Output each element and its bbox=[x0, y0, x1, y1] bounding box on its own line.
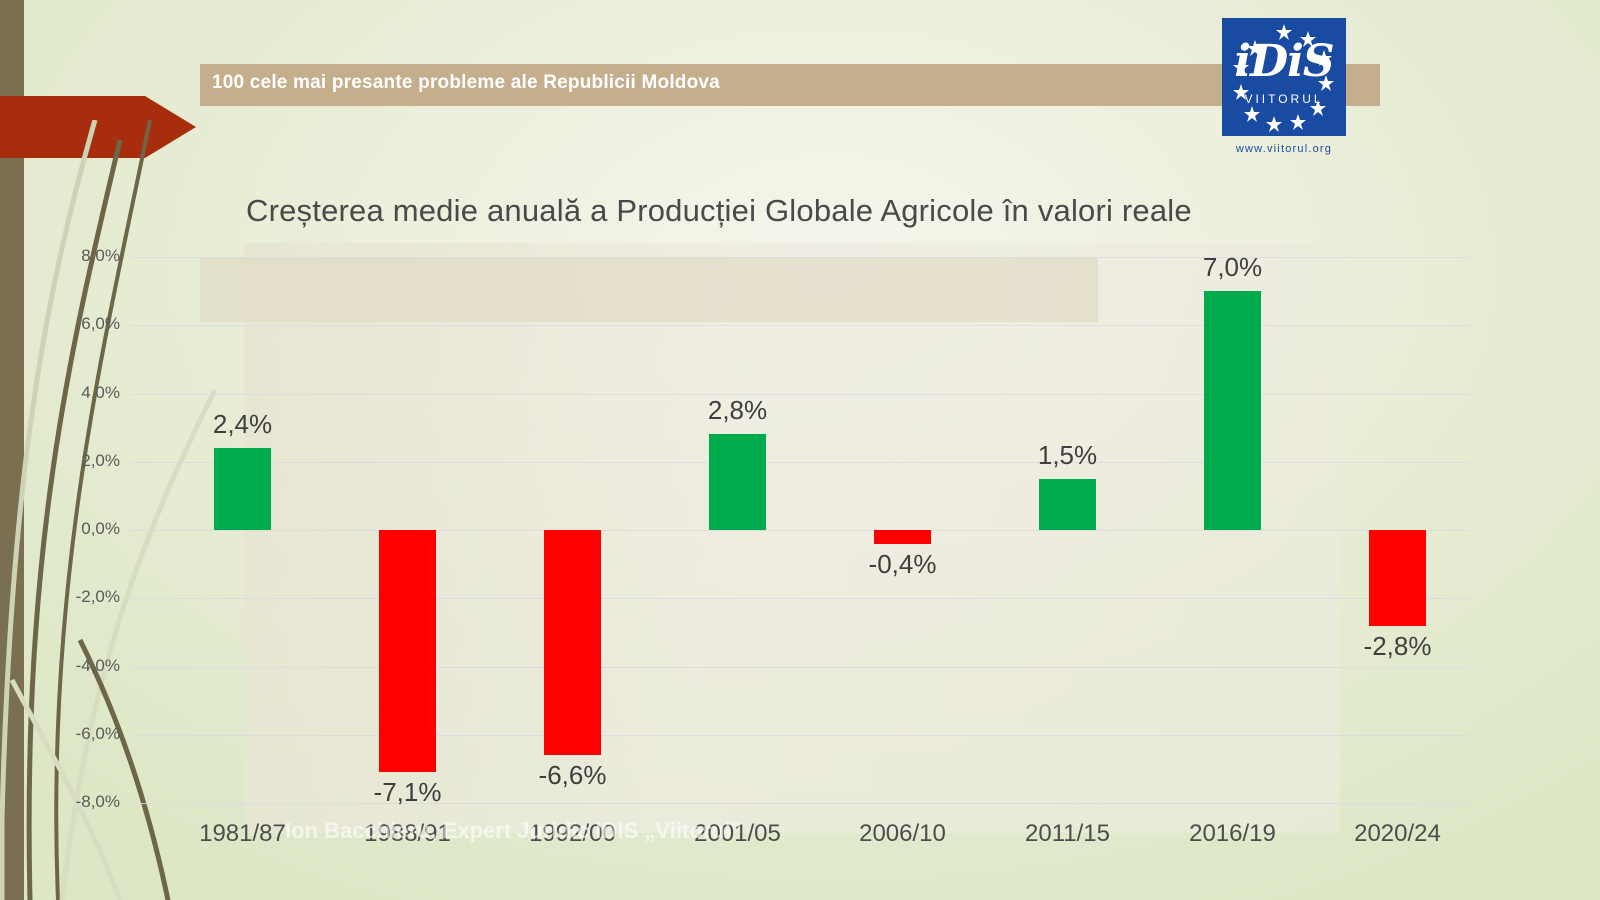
y-axis-tick-label: 4,0% bbox=[10, 383, 120, 403]
gridline bbox=[130, 598, 1470, 599]
bar-value-label: -2,8% bbox=[1318, 631, 1478, 662]
bar-value-label: -7,1% bbox=[328, 777, 488, 808]
bar-value-label: 1,5% bbox=[988, 440, 1148, 471]
bar-1981-87[interactable] bbox=[214, 448, 271, 530]
bar-2011-15[interactable] bbox=[1039, 479, 1096, 530]
gridline bbox=[130, 667, 1470, 668]
gridline bbox=[130, 325, 1470, 326]
gridline bbox=[130, 735, 1470, 736]
gridline bbox=[130, 530, 1470, 531]
bar-1988-91[interactable] bbox=[379, 530, 436, 772]
bar-2006-10[interactable] bbox=[874, 530, 931, 544]
y-axis-tick-label: -2,0% bbox=[10, 587, 120, 607]
bar-2016-19[interactable] bbox=[1204, 291, 1261, 530]
slide-canvas: 100 cele mai presante probleme ale Repub… bbox=[0, 0, 1600, 900]
y-axis-tick-label: 8,0% bbox=[10, 246, 120, 266]
bar-2001-05[interactable] bbox=[709, 434, 766, 530]
x-axis-tick-label: 2006/10 bbox=[823, 820, 983, 848]
x-axis-tick-label: 2011/15 bbox=[988, 820, 1148, 848]
y-axis-tick-label: -4,0% bbox=[10, 656, 120, 676]
y-axis-tick-label: -6,0% bbox=[10, 724, 120, 744]
bar-value-label: 7,0% bbox=[1153, 252, 1313, 283]
bar-value-label: 2,4% bbox=[163, 409, 323, 440]
bar-1992-00[interactable] bbox=[544, 530, 601, 755]
x-axis-tick-label: 2016/19 bbox=[1153, 820, 1313, 848]
bar-value-label: -6,6% bbox=[493, 760, 653, 791]
y-axis-tick-label: 0,0% bbox=[10, 519, 120, 539]
x-axis-tick-label: 2020/24 bbox=[1318, 820, 1478, 848]
gridline bbox=[130, 462, 1470, 463]
y-axis-tick-label: 2,0% bbox=[10, 451, 120, 471]
footer-author: Ion Bacchieru, Expert Juridic IDIS „Viit… bbox=[285, 818, 742, 844]
bar-2020-24[interactable] bbox=[1369, 530, 1426, 626]
bar-value-label: 2,8% bbox=[658, 395, 818, 426]
y-axis-tick-label: 6,0% bbox=[10, 314, 120, 334]
gridline bbox=[130, 394, 1470, 395]
y-axis-tick-label: -8,0% bbox=[10, 792, 120, 812]
bar-value-label: -0,4% bbox=[823, 549, 983, 580]
bar-chart-plot: 8,0%6,0%4,0%2,0%0,0%-2,0%-4,0%-6,0%-8,0%… bbox=[0, 0, 1600, 900]
